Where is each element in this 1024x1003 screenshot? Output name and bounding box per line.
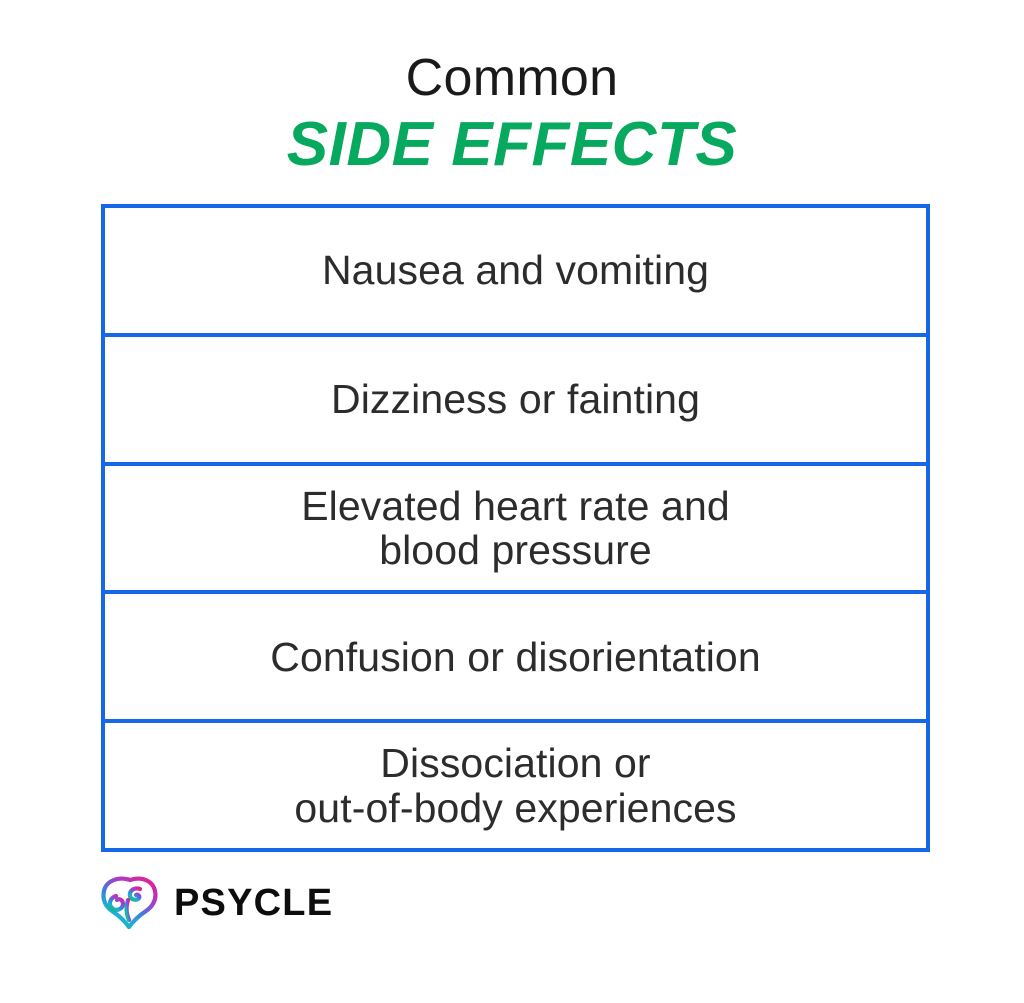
title-line-side-effects: SIDE EFFECTS — [0, 114, 1024, 176]
logo: PSYCLE — [96, 872, 333, 932]
side-effect-label: Elevated heart rate and blood pressure — [119, 484, 912, 573]
side-effect-label: Dizziness or fainting — [119, 377, 912, 421]
page-title: Common SIDE EFFECTS — [0, 52, 1024, 176]
side-effect-label: Confusion or disorientation — [119, 635, 912, 679]
title-line-common: Common — [0, 52, 1024, 104]
brain-icon — [96, 872, 164, 932]
table-row: Dissociation or out-of-body experiences — [105, 723, 926, 848]
logo-wordmark: PSYCLE — [174, 884, 333, 922]
side-effect-label: Dissociation or out-of-body experiences — [119, 741, 912, 830]
table-row: Dizziness or fainting — [105, 337, 926, 466]
infographic-root: Common SIDE EFFECTS Nausea and vomiting … — [0, 0, 1024, 1003]
table-row: Elevated heart rate and blood pressure — [105, 466, 926, 595]
side-effects-table: Nausea and vomiting Dizziness or faintin… — [101, 204, 930, 852]
table-row: Confusion or disorientation — [105, 594, 926, 723]
side-effect-label: Nausea and vomiting — [119, 248, 912, 292]
table-row: Nausea and vomiting — [105, 208, 926, 337]
